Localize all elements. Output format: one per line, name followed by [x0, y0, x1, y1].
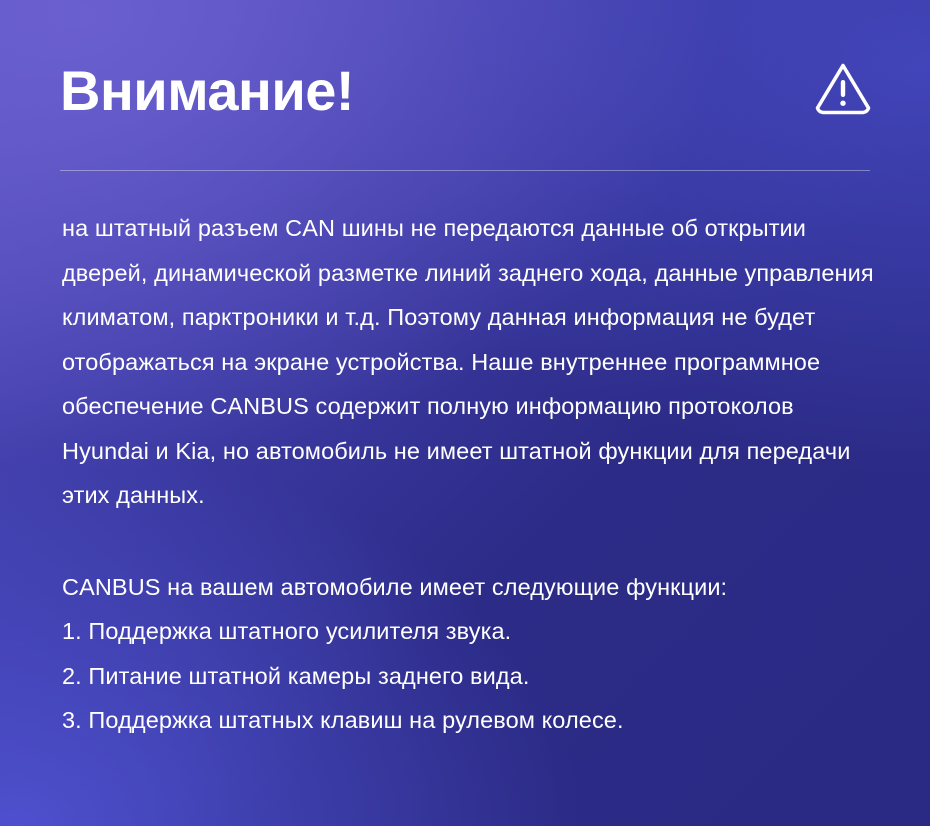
list-item: 3. Поддержка штатных клавиш на рулевом к…	[62, 698, 878, 743]
header-divider	[60, 170, 870, 171]
banner-header: Внимание!	[0, 0, 930, 170]
list-item: 1. Поддержка штатного усилителя звука.	[62, 609, 878, 654]
banner-body: на штатный разъем CAN шины не передаются…	[62, 206, 878, 743]
main-paragraph: на штатный разъем CAN шины не передаются…	[62, 206, 878, 518]
warning-triangle-icon	[813, 51, 873, 119]
warning-notice-banner: Внимание! на штатный разъем CAN шины не …	[0, 0, 930, 826]
page-title: Внимание!	[60, 51, 354, 119]
list-item: 2. Питание штатной камеры заднего вида.	[62, 654, 878, 699]
list-heading: CANBUS на вашем автомобиле имеет следующ…	[62, 565, 878, 610]
